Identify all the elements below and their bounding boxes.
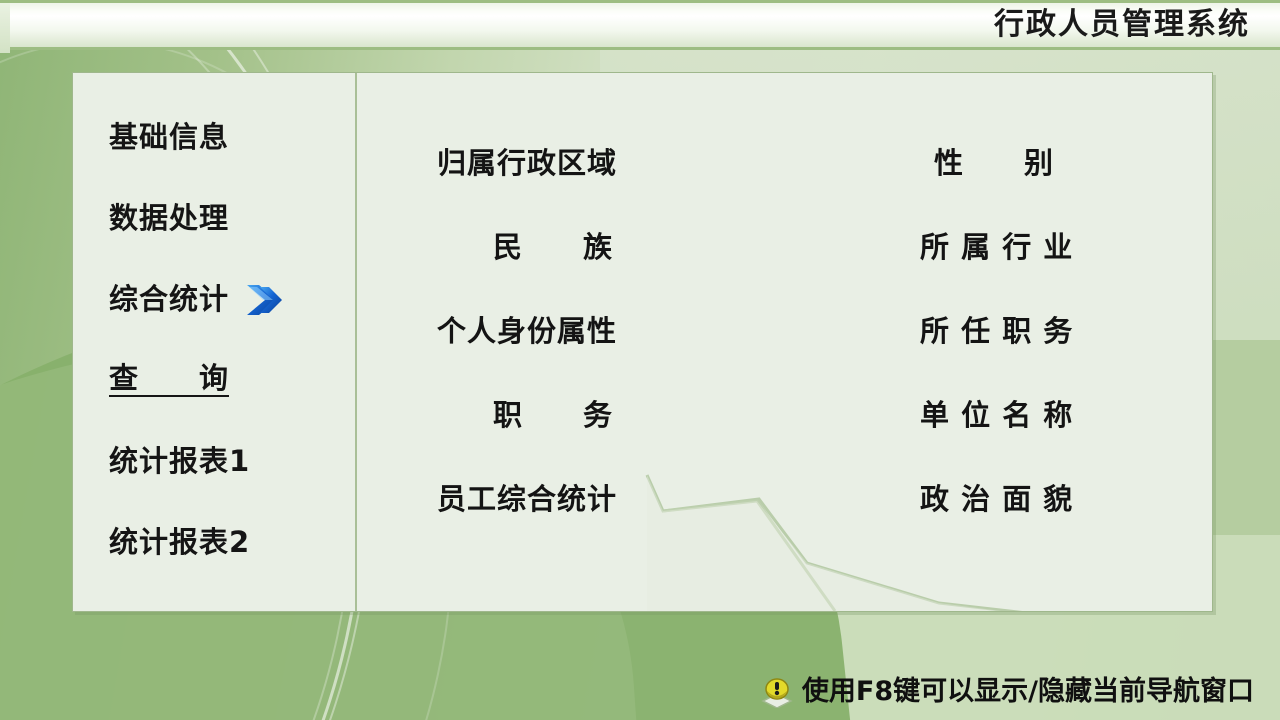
option-label: 归属行政区域 xyxy=(437,149,617,178)
option-label: 所 任 职 务 xyxy=(920,317,1073,346)
option-label: 职 务 xyxy=(493,401,613,430)
sidebar-item-label: 查 询 xyxy=(109,364,229,397)
app-header: 行政人员管理系统 xyxy=(0,0,1280,50)
sidebar-item-report-2[interactable]: 统计报表2 xyxy=(73,502,355,583)
header-left-accent xyxy=(0,3,10,53)
sidebar-item-label: 基础信息 xyxy=(109,123,229,152)
option-ethnicity[interactable]: 民 族 xyxy=(437,205,882,289)
sidebar-item-label: 统计报表1 xyxy=(109,447,250,476)
sidebar-item-report-1[interactable]: 统计报表1 xyxy=(73,421,355,502)
app-root: 行政人员管理系统 基础信息 数据处理 综合统计 xyxy=(0,0,1280,720)
option-political-status[interactable]: 政 治 面 貌 xyxy=(882,457,1212,541)
status-hint-text: 使用F8键可以显示/隐藏当前导航窗口 xyxy=(802,678,1254,705)
option-administrative-region[interactable]: 归属行政区域 xyxy=(437,121,882,205)
sidebar-item-label: 统计报表2 xyxy=(109,528,250,557)
sidebar-item-query[interactable]: 查 询 xyxy=(73,340,355,421)
option-gender[interactable]: 性 别 xyxy=(882,121,1212,205)
option-label: 性 别 xyxy=(934,149,1054,178)
sidebar-item-data-processing[interactable]: 数据处理 xyxy=(73,178,355,259)
option-industry[interactable]: 所 属 行 业 xyxy=(882,205,1212,289)
option-personal-identity-attribute[interactable]: 个人身份属性 xyxy=(437,289,882,373)
sidebar-item-label: 综合统计 xyxy=(109,285,229,314)
navigation-sidebar: 基础信息 数据处理 综合统计 xyxy=(73,73,357,611)
option-label: 个人身份属性 xyxy=(437,317,617,346)
content-panel: 归属行政区域 性 别 民 族 所 属 行 业 个人身份属性 所 任 职 务 xyxy=(357,73,1212,611)
option-label: 员工综合统计 xyxy=(437,485,617,514)
option-label: 单 位 名 称 xyxy=(920,401,1073,430)
option-position[interactable]: 职 务 xyxy=(437,373,882,457)
app-title: 行政人员管理系统 xyxy=(994,10,1280,40)
status-bar: 使用F8键可以显示/隐藏当前导航窗口 xyxy=(0,662,1280,720)
sidebar-item-label: 数据处理 xyxy=(109,204,229,233)
main-window: 基础信息 数据处理 综合统计 xyxy=(72,72,1213,612)
option-label: 所 属 行 业 xyxy=(920,233,1073,262)
double-chevron-right-icon xyxy=(243,280,285,320)
sidebar-item-basic-info[interactable]: 基础信息 xyxy=(73,97,355,178)
option-assumed-position[interactable]: 所 任 职 务 xyxy=(882,289,1212,373)
option-organization-name[interactable]: 单 位 名 称 xyxy=(882,373,1212,457)
statistics-option-grid: 归属行政区域 性 别 民 族 所 属 行 业 个人身份属性 所 任 职 务 xyxy=(357,121,1212,541)
option-label: 民 族 xyxy=(493,233,613,262)
sidebar-item-comprehensive-statistics[interactable]: 综合统计 xyxy=(73,259,355,340)
option-employee-comprehensive-statistics[interactable]: 员工综合统计 xyxy=(437,457,882,541)
warning-exclamation-icon xyxy=(760,674,794,708)
option-label: 政 治 面 貌 xyxy=(920,485,1073,514)
